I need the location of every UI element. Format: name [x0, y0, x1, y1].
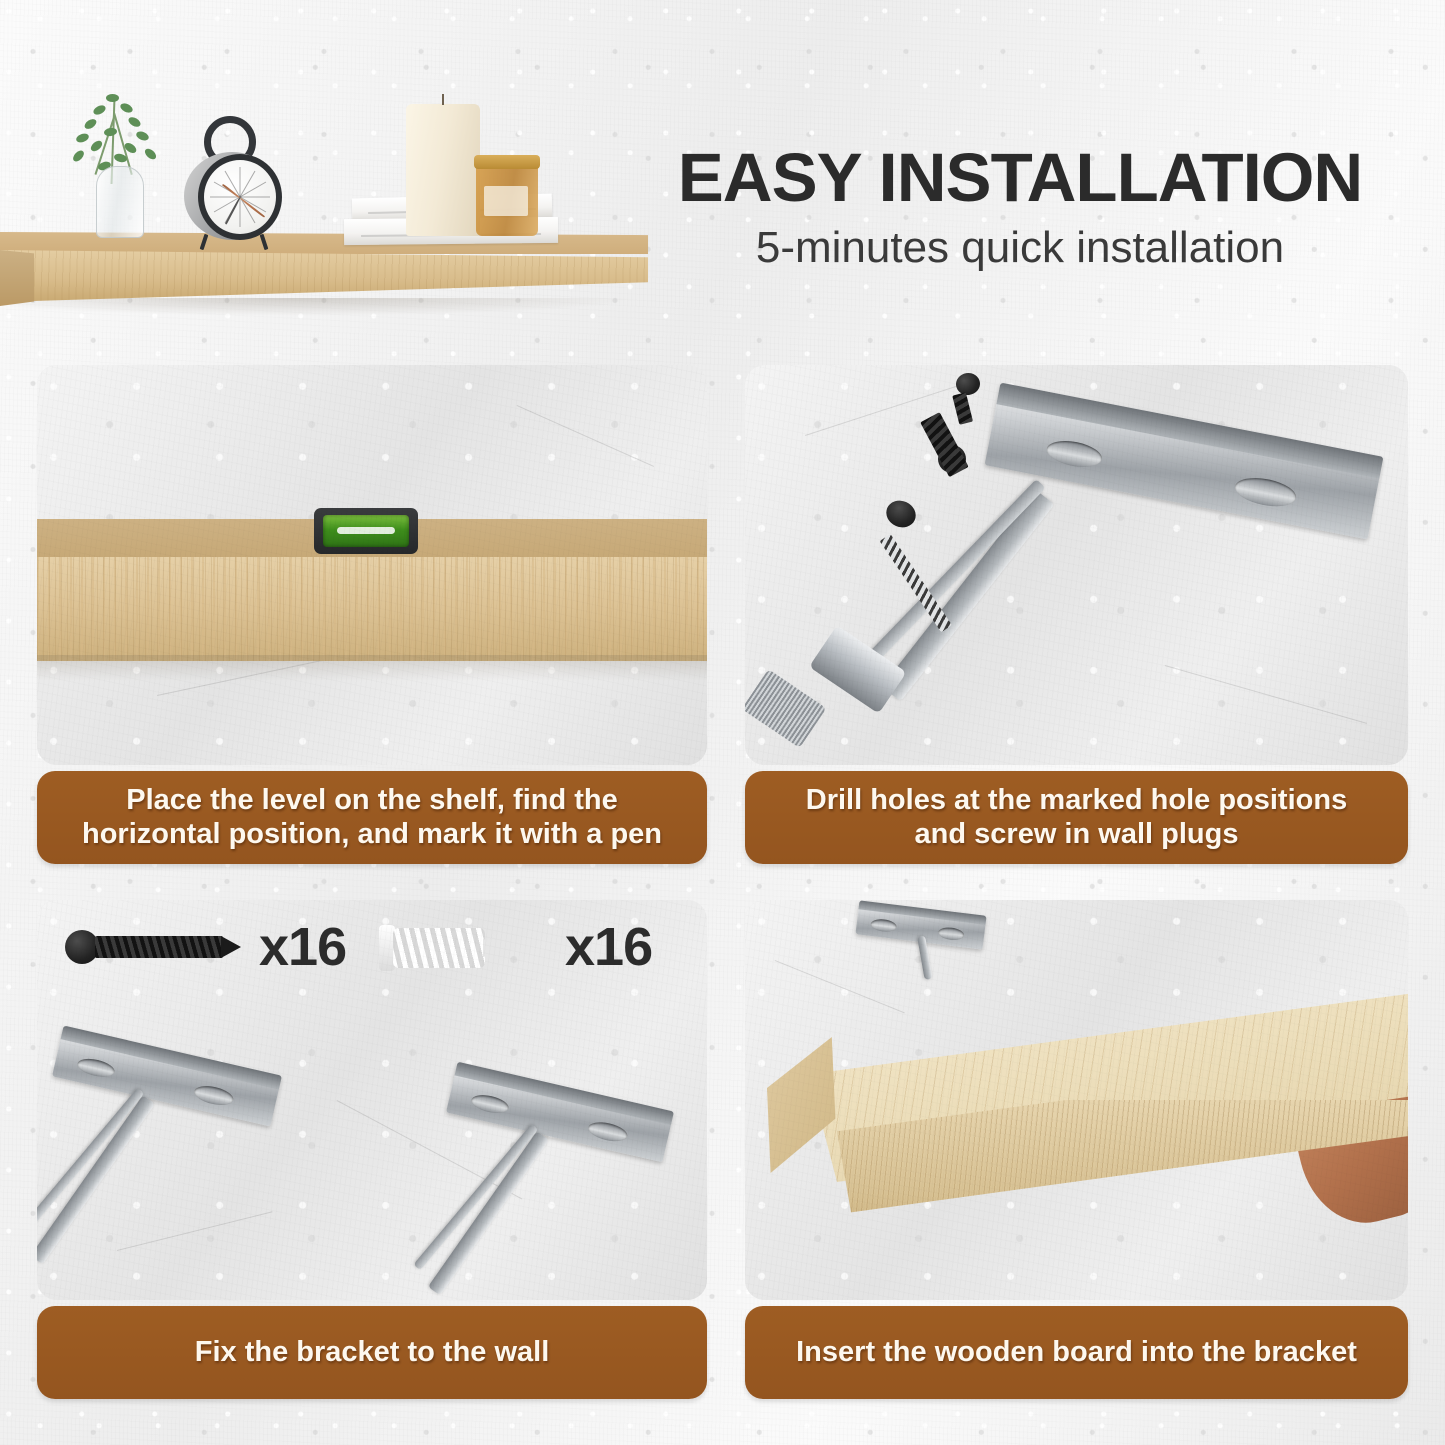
page-subtitle: 5-minutes quick installation [614, 226, 1426, 270]
shelf-end-grain [0, 250, 34, 306]
step-2-photo-panel [745, 365, 1408, 765]
bracket-left-plate [52, 1025, 282, 1126]
drill-chuck [809, 625, 907, 713]
step-1-photo [37, 365, 707, 765]
board-end-grain [767, 1020, 857, 1190]
pillar-candle [406, 104, 480, 236]
wall-bracket-slot-2 [938, 926, 965, 941]
level-vial [323, 515, 409, 547]
bracket-left-rod-2 [37, 1088, 144, 1239]
step-3-photo: x16 x16 [37, 900, 707, 1300]
jar-candle-lid [474, 155, 540, 169]
bracket-right-slot-1 [470, 1092, 511, 1116]
screw-shaft [95, 936, 223, 958]
step-3-photo-panel: x16 x16 [37, 900, 707, 1300]
board-top-surface [767, 986, 1408, 1182]
step-1-photo-panel [37, 365, 707, 765]
bracket-right-rod-2 [413, 1124, 538, 1271]
clock-bezel [198, 154, 282, 240]
step-4-caption: Insert the wooden board into the bracket [745, 1306, 1408, 1399]
step-3-caption: Fix the bracket to the wall [37, 1306, 707, 1399]
step-1-caption: Place the level on the shelf, find the h… [37, 771, 707, 864]
bracket-wall-plate [985, 383, 1384, 540]
wall-plug-icon [393, 928, 485, 968]
screw-tip [221, 936, 241, 958]
step-2-caption: Drill holes at the marked hole positions… [745, 771, 1408, 864]
step-4-caption-text: Insert the wooden board into the bracket [796, 1336, 1357, 1370]
wall-bracket-slot-1 [870, 918, 897, 933]
shelf-board-face [37, 557, 707, 661]
screw-head-upper [935, 442, 968, 475]
screw-icon [65, 930, 99, 964]
wall-plug-tip [483, 939, 517, 957]
screw-shaft-upper [920, 412, 969, 477]
infographic-page: EASY INSTALLATION 5-minutes quick instal… [0, 0, 1445, 1445]
step-2-photo [745, 365, 1408, 765]
step-1-caption-text: Place the level on the shelf, find the h… [82, 784, 662, 851]
wall-plug-quantity: x16 [565, 916, 652, 978]
bracket-slot-right [1233, 473, 1299, 510]
bracket-support-rod [882, 490, 1055, 702]
glass-vase [96, 166, 144, 238]
wall-plug-collar [379, 925, 395, 971]
bracket-left-slot-2 [192, 1083, 235, 1109]
bubble-level [314, 508, 418, 554]
screw-quantity: x16 [259, 916, 346, 978]
level-bubble [337, 527, 395, 534]
screw-head-top [955, 371, 982, 396]
shelf-board-shadow [37, 655, 707, 681]
hero-floating-shelf [0, 232, 648, 312]
step-2-caption-text: Drill holes at the marked hole positions… [806, 784, 1347, 851]
drill-knurled-collar [745, 669, 826, 748]
step-4-photo-panel [745, 900, 1408, 1300]
screw-shaft-top [952, 392, 973, 424]
bracket-rod-secondary [870, 479, 1046, 661]
jar-candle-label [484, 186, 528, 216]
page-title: EASY INSTALLATION [614, 143, 1426, 212]
step-4-photo [745, 900, 1408, 1300]
wall-bracket-plate [855, 900, 986, 949]
hand [1283, 1061, 1408, 1236]
bracket-right-plate [446, 1062, 674, 1163]
wall-bracket-rod [917, 935, 933, 980]
board-front-edge [767, 1100, 1408, 1256]
bracket-left-rod [37, 1095, 155, 1264]
step-3-caption-text: Fix the bracket to the wall [195, 1336, 550, 1370]
alarm-clock [176, 116, 292, 244]
bracket-right-slot-2 [586, 1119, 629, 1145]
shelf-front-face [0, 250, 648, 302]
clock-minute-hand [239, 197, 265, 218]
screw-head-lower [882, 496, 920, 532]
hero-section: EASY INSTALLATION 5-minutes quick instal… [0, 0, 1445, 340]
shelf-board-top [37, 519, 707, 561]
bracket-slot-left [1045, 437, 1105, 471]
shelf-shadow [10, 298, 640, 316]
drill-bit-icon [880, 534, 952, 632]
bracket-left-slot-1 [76, 1056, 117, 1080]
clock-dial [204, 160, 276, 234]
bracket-right-rod [428, 1131, 549, 1295]
